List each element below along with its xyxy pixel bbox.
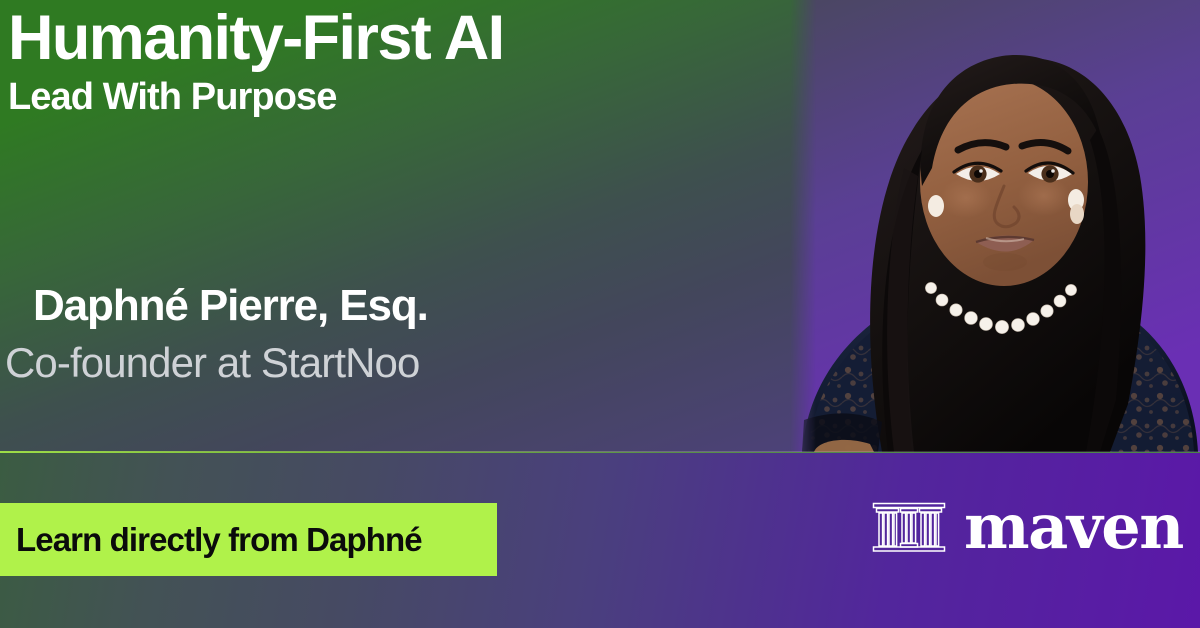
headline-block: Humanity-First AI Lead With Purpose [8,6,788,118]
banner-headline: Humanity-First AI [8,6,788,70]
cta-badge[interactable]: Learn directly from Daphné [0,503,497,576]
speaker-name: Daphné Pierre, Esq. [33,282,780,330]
speaker-portrait [790,0,1200,452]
banner-subheadline: Lead With Purpose [8,78,788,118]
speaker-role: Co-founder at StartNoo [5,340,780,385]
cta-label: Learn directly from Daphné [16,521,422,559]
banner-stage: Humanity-First AI Lead With Purpose Daph… [0,0,1200,452]
maven-columns-icon [872,501,946,553]
maven-wordmark: maven [964,496,1183,558]
speaker-block: Daphné Pierre, Esq. Co-founder at StartN… [0,282,780,385]
maven-brand-lockup[interactable]: maven [872,496,1183,558]
promo-banner: Humanity-First AI Lead With Purpose Daph… [0,0,1200,628]
